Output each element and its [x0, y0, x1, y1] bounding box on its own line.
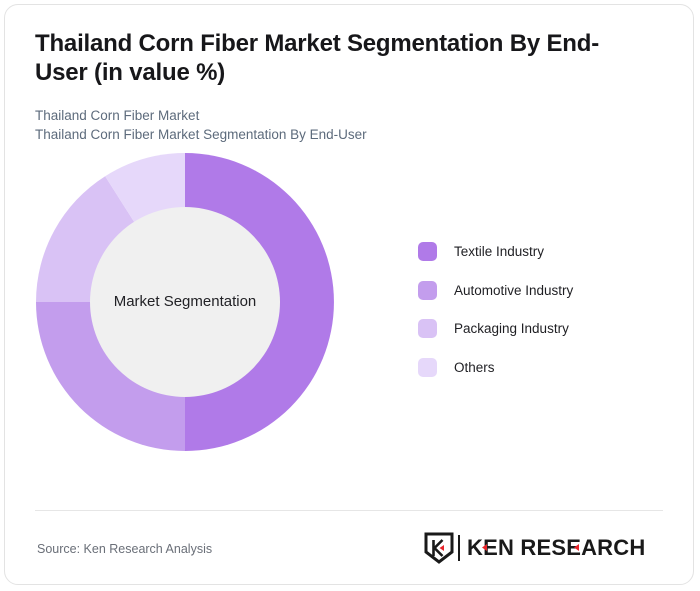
donut-inner-circle [90, 207, 280, 397]
chart-header: Thailand Corn Fiber Market Segmentation … [5, 5, 693, 145]
legend-item-label: Others [454, 360, 495, 375]
legend-swatch-icon [418, 281, 437, 300]
subtitle-market: Thailand Corn Fiber Market [35, 106, 663, 126]
chart-legend: Textile IndustryAutomotive IndustryPacka… [418, 233, 573, 387]
page-title: Thailand Corn Fiber Market Segmentation … [35, 29, 645, 88]
footer-divider [35, 510, 663, 511]
legend-swatch-icon [418, 358, 437, 377]
subtitle-segmentation: Thailand Corn Fiber Market Segmentation … [35, 125, 663, 145]
subtitle-block: Thailand Corn Fiber Market Thailand Corn… [35, 106, 663, 145]
legend-item[interactable]: Packaging Industry [418, 310, 573, 349]
svg-text:KEN RESEARCH: KEN RESEARCH [467, 535, 645, 560]
legend-item-label: Automotive Industry [454, 283, 573, 298]
donut-svg [34, 151, 336, 453]
chart-footer: Source: Ken Research Analysis KEN RESEAR… [35, 530, 663, 572]
source-text: Source: Ken Research Analysis [37, 542, 212, 556]
legend-item[interactable]: Textile Industry [418, 233, 573, 272]
legend-swatch-icon [418, 319, 437, 338]
logo-divider [458, 535, 460, 561]
ken-research-logo: KEN RESEARCH [424, 532, 663, 564]
chart-card: Thailand Corn Fiber Market Segmentation … [4, 4, 694, 585]
legend-item-label: Packaging Industry [454, 321, 569, 336]
plot-area: Market Segmentation Textile IndustryAuto… [5, 145, 693, 475]
ken-research-wordmark: KEN RESEARCH [467, 535, 663, 561]
legend-item-label: Textile Industry [454, 244, 544, 259]
legend-swatch-icon [418, 242, 437, 261]
legend-item[interactable]: Others [418, 348, 573, 387]
ken-research-shield-icon [424, 532, 454, 564]
donut-chart: Market Segmentation [34, 151, 336, 453]
legend-item[interactable]: Automotive Industry [418, 271, 573, 310]
